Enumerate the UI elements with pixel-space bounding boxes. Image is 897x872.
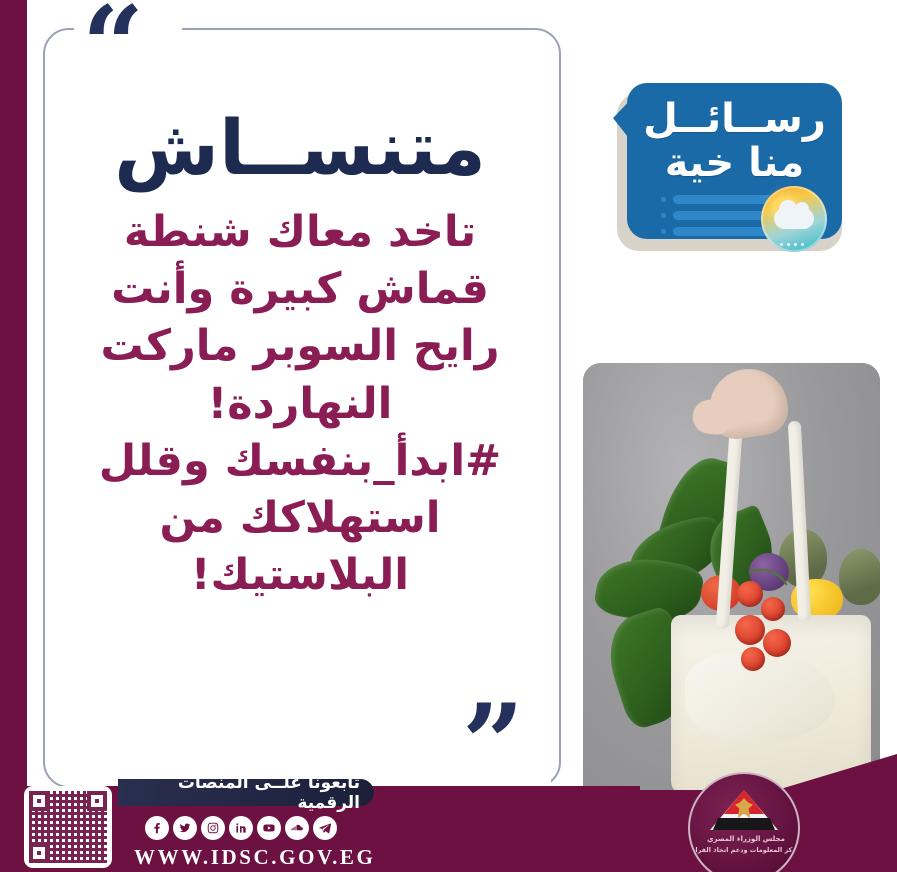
tote-bag-photo [583,363,880,807]
body-line: البلاستيك! [60,547,540,604]
seal-text-line2: مركز المعلومات ودعم اتخاذ القرار [690,847,800,854]
linkedin-icon[interactable] [229,816,253,840]
seal-text-line1: مجلس الوزراء المصري [690,836,800,844]
follow-us-banner: تابعونا علــى المنصات الرقمية [118,779,374,806]
follow-us-label: تابعونا علــى المنصات الرقمية [118,773,360,813]
body-line: النهاردة! [60,376,540,433]
body-line-hashtag: #ابدأ_بنفسك وقلل [60,433,540,490]
instagram-icon[interactable] [201,816,225,840]
climate-messages-badge: رســائــل منا خية [613,83,846,252]
opening-quote-mark: “ [82,0,144,100]
closing-quote-mark: ” [462,690,524,798]
body-line: استهلاكك من [60,490,540,547]
body-line: قماش كبيرة وأنت [60,261,540,318]
body-line: تاخد معاك شنطة [60,204,540,261]
tomato-graphic [763,629,791,657]
tomato-graphic [741,647,765,671]
cloud-icon [774,208,814,229]
pyramid-black-band [713,818,775,830]
qr-code-pattern [29,791,107,863]
website-url[interactable]: WWW.IDSC.GOV.EG [134,845,375,870]
tomato-graphic [735,615,765,645]
qr-eye [87,791,107,811]
rain-drops-icon [780,231,808,250]
facebook-icon[interactable] [145,816,169,840]
badge-bullet-dots [661,197,666,245]
tomato-graphic [761,597,785,621]
qr-eye [29,791,49,811]
artichoke-graphic [839,549,880,605]
message-text-block: متنســاش تاخد معاك شنطة قماش كبيرة وأنت … [60,105,540,604]
sun-cloud-rain-icon [761,186,827,252]
youtube-icon[interactable] [257,816,281,840]
telegram-icon[interactable] [313,816,337,840]
poster-root: “ ” متنســاش تاخد معاك شنطة قماش كبيرة و… [0,0,897,872]
left-accent-bar [0,0,27,800]
soundcloud-icon[interactable] [285,816,309,840]
qr-eye [29,843,49,863]
badge-title-line2: منا خية [627,143,842,183]
tomato-graphic [737,581,763,607]
body-copy: تاخد معاك شنطة قماش كبيرة وأنت رايح السو… [60,204,540,604]
headline: متنســاش [60,105,540,190]
body-line: رايح السوبر ماركت [60,318,540,375]
badge-title-line1: رســائــل [627,99,842,139]
idsc-logo-seal: مجلس الوزراء المصري مركز المعلومات ودعم … [688,772,800,872]
twitter-icon[interactable] [173,816,197,840]
qr-code[interactable] [24,786,112,868]
social-links-row [145,816,337,840]
